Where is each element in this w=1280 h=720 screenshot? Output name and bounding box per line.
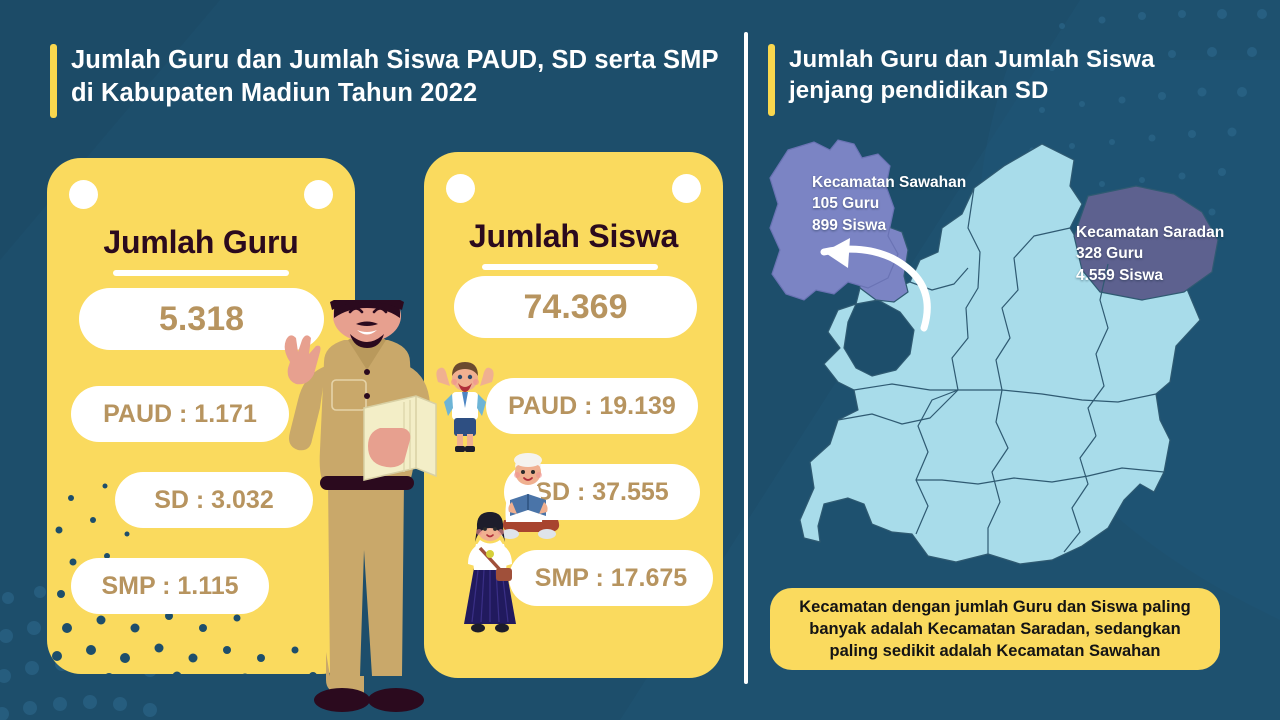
- right-title-text: Jumlah Guru dan Jumlah Siswa jenjang pen…: [789, 44, 1238, 106]
- siswa-smp-pill: SMP : 17.675: [509, 550, 713, 606]
- callout-sawahan: Kecamatan Sawahan 105 Guru 899 Siswa: [812, 172, 966, 236]
- card-hole-left: [69, 180, 98, 209]
- card-hole-left: [446, 174, 475, 203]
- title-accent-bar: [50, 44, 57, 118]
- card-title-underline: [482, 264, 658, 270]
- callout-saradan-district: Kecamatan Saradan: [1076, 222, 1224, 243]
- siswa-total-pill: 74.369: [454, 276, 697, 338]
- summary-note-box: Kecamatan dengan jumlah Guru dan Siswa p…: [770, 588, 1220, 670]
- callout-saradan-teachers: 328 Guru: [1076, 243, 1224, 264]
- right-panel-title: Jumlah Guru dan Jumlah Siswa jenjang pen…: [768, 44, 1238, 116]
- card-title-siswa: Jumlah Siswa: [424, 218, 723, 255]
- card-title-guru: Jumlah Guru: [47, 224, 355, 261]
- callout-sawahan-teachers: 105 Guru: [812, 193, 966, 214]
- siswa-paud-pill: PAUD : 19.139: [486, 378, 698, 434]
- summary-note-text: Kecamatan dengan jumlah Guru dan Siswa p…: [784, 596, 1206, 662]
- callout-sawahan-district: Kecamatan Sawahan: [812, 172, 966, 193]
- boy-student-illustration: [428, 358, 502, 454]
- panel-divider: [744, 32, 748, 684]
- callout-saradan-students: 4.559 Siswa: [1076, 265, 1224, 286]
- callout-sawahan-students: 899 Siswa: [812, 215, 966, 236]
- infographic-canvas: Jumlah Guru dan Jumlah Siswa PAUD, SD se…: [0, 0, 1280, 720]
- callout-saradan: Kecamatan Saradan 328 Guru 4.559 Siswa: [1076, 222, 1224, 286]
- guru-paud-pill: PAUD : 1.171: [71, 386, 289, 442]
- left-title-text: Jumlah Guru dan Jumlah Siswa PAUD, SD se…: [71, 44, 740, 110]
- card-title-underline: [113, 270, 289, 276]
- left-panel-title: Jumlah Guru dan Jumlah Siswa PAUD, SD se…: [50, 44, 740, 118]
- title-accent-bar: [768, 44, 775, 116]
- card-hole-right: [304, 180, 333, 209]
- card-hole-right: [672, 174, 701, 203]
- guru-smp-pill: SMP : 1.115: [71, 558, 269, 614]
- girl-student-illustration: [456, 506, 524, 636]
